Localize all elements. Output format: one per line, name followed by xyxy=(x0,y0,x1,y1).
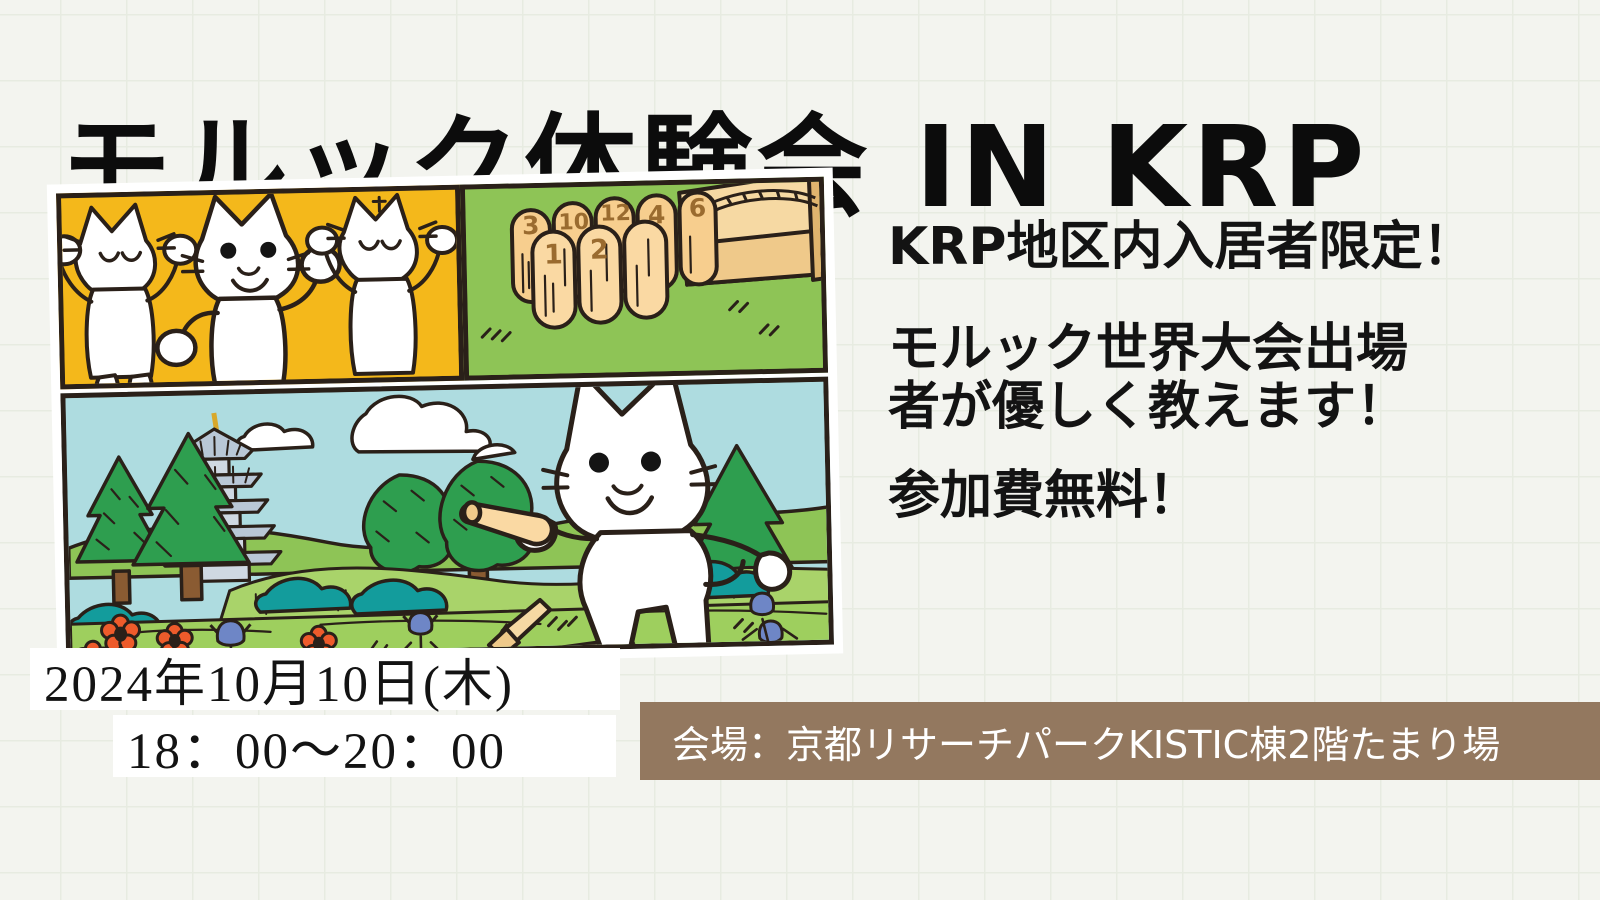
svg-text:1: 1 xyxy=(544,239,563,270)
copy-block: KRP地区内入居者限定！ モルック世界大会出場 者が優しく教えます！ 参加費無料… xyxy=(888,218,1588,525)
molkky-pins-art: 3 10 12 4 6 1 2 xyxy=(465,182,828,381)
event-date-text: 2024年10月10日(木) xyxy=(44,642,514,716)
venue-text: 会場：京都リサーチパークKISTIC棟2階たまり場 xyxy=(672,714,1500,769)
panel-cats-cheering xyxy=(56,185,464,390)
copy-line-free: 参加費無料！ xyxy=(888,467,1588,525)
svg-text:6: 6 xyxy=(688,193,706,222)
panel-molkky-pins: 3 10 12 4 6 1 2 xyxy=(460,177,828,381)
copy-paragraph-coach: モルック世界大会出場 者が優しく教えます！ xyxy=(888,320,1588,436)
copy-line-eligibility: KRP地区内入居者限定！ xyxy=(888,218,1588,276)
svg-text:4: 4 xyxy=(648,200,666,229)
panel-kyoto-landscape xyxy=(60,377,834,662)
copy-line-coach-a: モルック世界大会出場 xyxy=(888,320,1588,378)
svg-text:3: 3 xyxy=(522,211,540,240)
event-date-box: 2024年10月10日(木) xyxy=(30,648,620,710)
event-time-text: 18：00〜20：00 xyxy=(127,709,506,783)
event-time-box: 18：00〜20：00 xyxy=(113,715,616,777)
copy-line-coach-b: 者が優しく教えます！ xyxy=(888,378,1588,436)
illustration-inner: 3 10 12 4 6 1 2 xyxy=(56,177,834,662)
svg-text:10: 10 xyxy=(558,210,589,236)
kyoto-landscape-art xyxy=(65,382,834,662)
venue-bar: 会場：京都リサーチパークKISTIC棟2階たまり場 xyxy=(640,702,1600,780)
cats-cheering-art xyxy=(61,190,464,390)
svg-text:2: 2 xyxy=(590,234,609,265)
illustration-card: 3 10 12 4 6 1 2 xyxy=(47,167,843,670)
svg-text:12: 12 xyxy=(600,201,631,227)
